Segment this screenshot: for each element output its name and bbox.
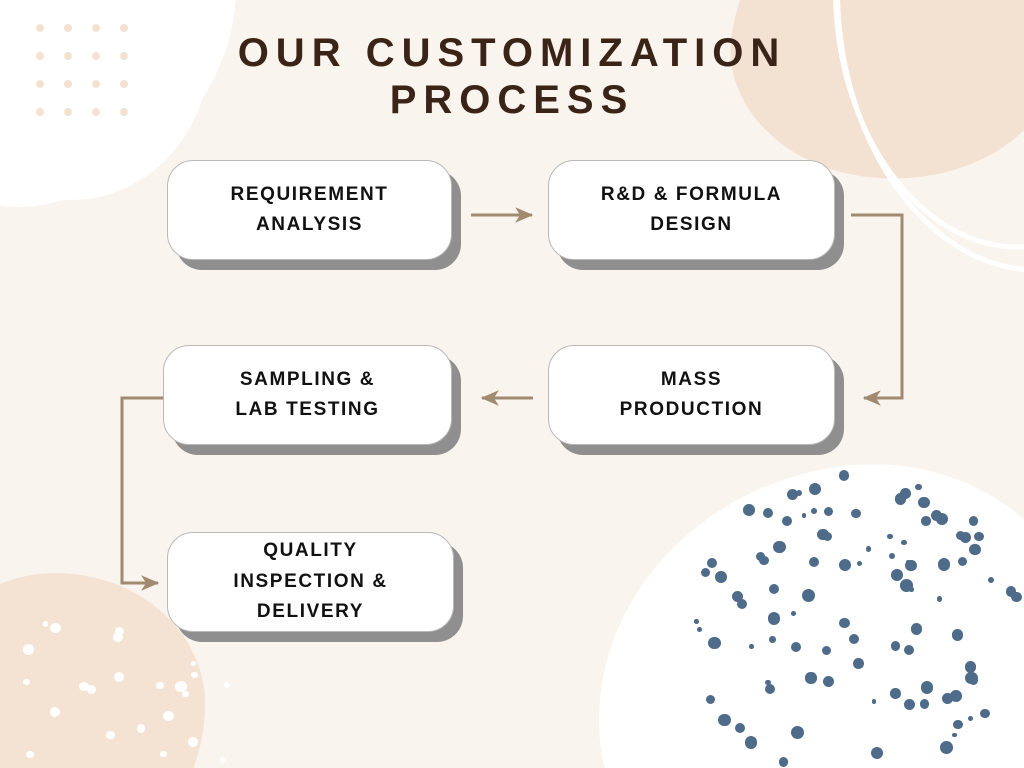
arrow-step4-to-step5 [122, 398, 163, 583]
process-step-requirement-analysis[interactable]: REQUIREMENT ANALYSIS [167, 160, 452, 260]
arrow-step2-to-step3 [851, 215, 902, 398]
process-step-mass-production[interactable]: MASS PRODUCTION [548, 345, 835, 445]
process-step-label: REQUIREMENT ANALYSIS [231, 180, 389, 241]
process-step-quality-inspection-delivery[interactable]: QUALITY INSPECTION & DELIVERY [167, 532, 454, 632]
infographic-canvas: OUR CUSTOMIZATION PROCESS REQUI [0, 0, 1024, 768]
process-step-label: MASS PRODUCTION [620, 365, 764, 426]
connector-arrows [0, 0, 1024, 768]
process-step-label: R&D & FORMULA DESIGN [601, 180, 782, 241]
process-step-label: QUALITY INSPECTION & DELIVERY [233, 536, 387, 627]
process-step-rd-formula-design[interactable]: R&D & FORMULA DESIGN [548, 160, 835, 260]
process-step-label: SAMPLING & LAB TESTING [235, 365, 379, 426]
process-step-sampling-lab-testing[interactable]: SAMPLING & LAB TESTING [163, 345, 452, 445]
